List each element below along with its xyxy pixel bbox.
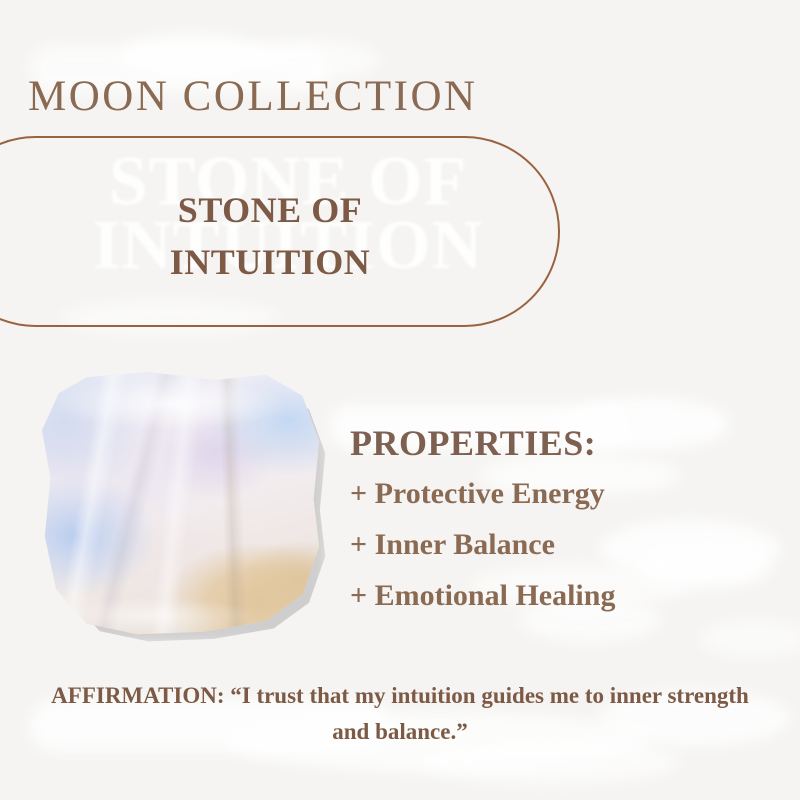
stone-body xyxy=(42,372,322,637)
affirmation-text: AFFIRMATION: “I trust that my intuition … xyxy=(30,678,770,749)
page-title: MOON COLLECTION xyxy=(28,75,478,118)
stone-title: STONE OF INTUITION xyxy=(60,184,480,288)
properties-section: PROPERTIES: + Protective Energy + Inner … xyxy=(350,425,770,632)
stone-sheen-overlay xyxy=(42,372,322,637)
property-item: + Emotional Healing xyxy=(350,581,770,611)
properties-heading: PROPERTIES: xyxy=(350,425,770,461)
property-item: + Inner Balance xyxy=(350,530,770,560)
stone-image xyxy=(42,372,332,647)
cloud-blob xyxy=(120,34,270,78)
property-item: + Protective Energy xyxy=(350,479,770,509)
crystal-info-card: MOON COLLECTION STONE OF INTUITION STONE… xyxy=(0,0,800,800)
